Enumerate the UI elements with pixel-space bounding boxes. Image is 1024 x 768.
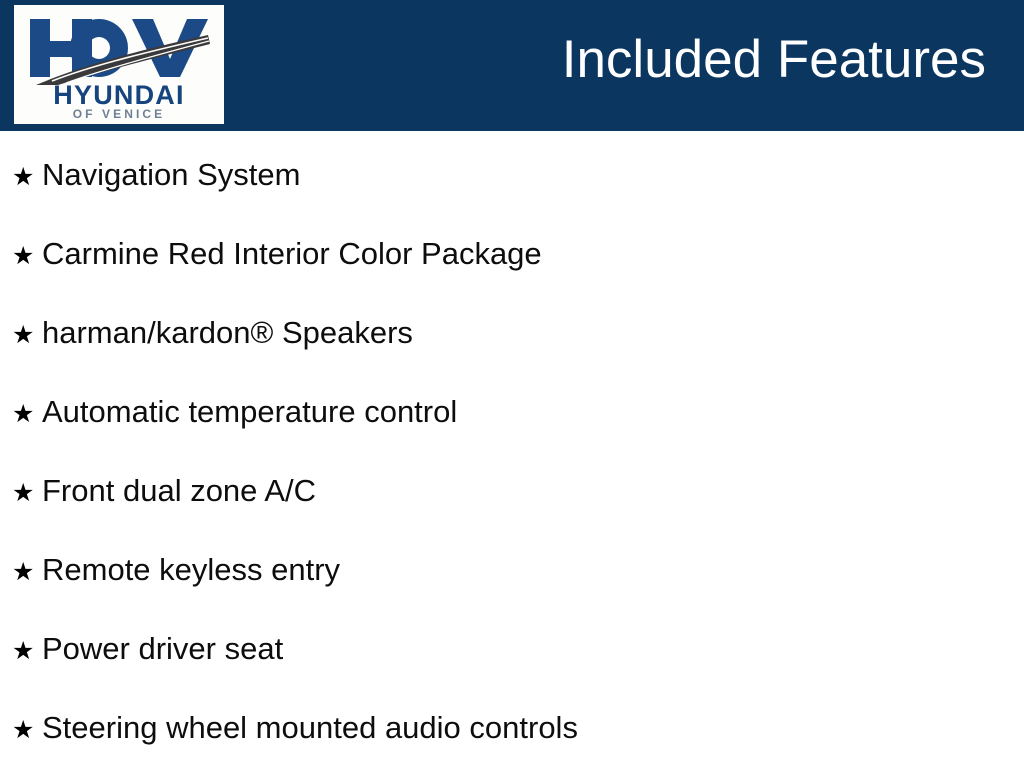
star-icon: ★ xyxy=(12,157,42,197)
star-icon: ★ xyxy=(12,552,42,592)
list-item: ★Navigation System xyxy=(12,155,300,195)
feature-label: Steering wheel mounted audio controls xyxy=(42,708,578,748)
list-item: ★Front dual zone A/C xyxy=(12,471,316,511)
feature-list: ★Navigation System★Carmine Red Interior … xyxy=(0,131,1024,768)
feature-label: Front dual zone A/C xyxy=(42,471,316,511)
logo-dealer-location: OF VENICE xyxy=(14,108,224,121)
logo-mark: HYUNDAI OF VENICE xyxy=(14,5,224,124)
feature-label: Power driver seat xyxy=(42,629,283,669)
feature-label: Remote keyless entry xyxy=(42,550,340,590)
list-item: ★Power driver seat xyxy=(12,629,283,669)
dealer-logo[interactable]: HYUNDAI OF VENICE xyxy=(14,5,224,124)
star-icon: ★ xyxy=(12,710,42,750)
logo-dealer-name: HYUNDAI xyxy=(14,81,224,110)
header-band: Included Features HYUNDAI OF xyxy=(0,0,1024,131)
list-item: ★Automatic temperature control xyxy=(12,392,457,432)
list-item: ★Carmine Red Interior Color Package xyxy=(12,234,542,274)
star-icon: ★ xyxy=(12,315,42,355)
star-icon: ★ xyxy=(12,473,42,513)
feature-label: harman/kardon® Speakers xyxy=(42,313,413,353)
page-title: Included Features xyxy=(562,28,986,92)
feature-label: Automatic temperature control xyxy=(42,392,457,432)
hov-wordmark-icon xyxy=(22,13,216,85)
feature-label: Navigation System xyxy=(42,155,300,195)
slide-included-features: Included Features HYUNDAI OF xyxy=(0,0,1024,768)
star-icon: ★ xyxy=(12,236,42,276)
list-item: ★harman/kardon® Speakers xyxy=(12,313,413,353)
star-icon: ★ xyxy=(12,631,42,671)
list-item: ★Remote keyless entry xyxy=(12,550,340,590)
star-icon: ★ xyxy=(12,394,42,434)
feature-label: Carmine Red Interior Color Package xyxy=(42,234,542,274)
list-item: ★Steering wheel mounted audio controls xyxy=(12,708,578,748)
